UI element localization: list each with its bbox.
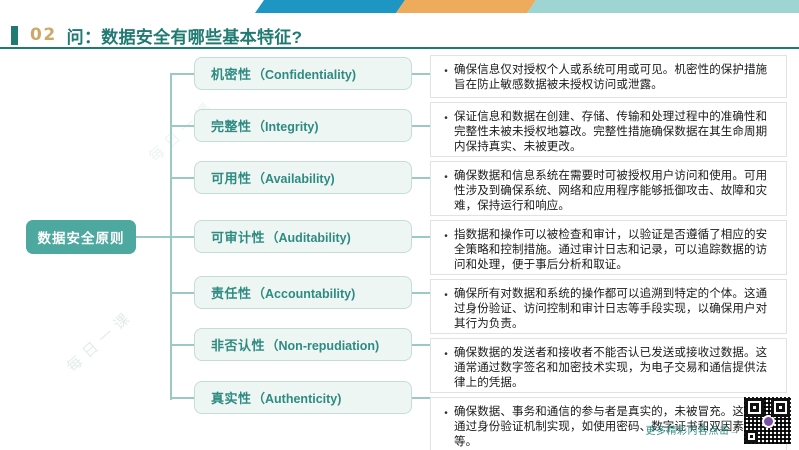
desc-text: 确保所有对数据和系统的操作都可以追溯到特定的个体。这通过身份验证、访问控制和审计… [454, 287, 778, 326]
page-title: 问：数据安全有哪些基本特征? [67, 23, 303, 48]
qr-code-icon[interactable] [744, 397, 791, 444]
node-label-en: （Auditability) [266, 227, 351, 246]
bullet-icon: • [438, 405, 454, 444]
connector-link-7 [412, 397, 431, 399]
node-label-en: （Confidentiality) [253, 64, 356, 83]
node-label-cn: 非否认性 [211, 335, 265, 354]
node-label-cn: 可审计性 [211, 227, 265, 246]
desc-text: 确保数据的发送者和接收者不能否认已发送或接收过数据。这通常通过数字签名和加密技术… [454, 346, 778, 385]
node-non-repudiation[interactable]: 非否认性 （Non-repudiation) [194, 328, 412, 361]
desc-text: 指数据和操作可以被检查和审计，以验证是否遵循了相应的安全策略和控制措施。通过审计… [454, 228, 778, 267]
node-label-cn: 完整性 [211, 116, 252, 135]
connector-branch-7 [170, 397, 195, 399]
banner-band-orange [396, 0, 536, 13]
connector-branch-4 [170, 236, 195, 238]
desc-text: 保证信息和数据在创建、存储、传输和处理过程中的准确性和完整性未被未授权地篡改。完… [454, 110, 778, 149]
connector-link-4 [412, 236, 431, 238]
root-node-label: 数据安全原则 [38, 227, 125, 247]
desc-panel-integrity: • 保证信息和数据在创建、存储、传输和处理过程中的准确性和完整性未被未授权地篡改… [430, 102, 787, 157]
bullet-icon: • [438, 63, 454, 90]
connector-link-6 [412, 344, 431, 346]
node-accountability[interactable]: 责任性 （Accountability) [194, 276, 412, 309]
bullet-icon: • [438, 110, 454, 149]
banner-band-teal [527, 0, 799, 13]
node-label-en: （Integrity) [253, 116, 319, 135]
connector-branch-6 [170, 344, 195, 346]
node-label-en: （Non-repudiation) [266, 335, 379, 354]
bullet-icon: • [438, 228, 454, 267]
desc-panel-auditability: • 指数据和操作可以被检查和审计，以验证是否遵循了相应的安全策略和控制措施。通过… [430, 220, 787, 275]
desc-panel-confidentiality: • 确保信息仅对授权个人或系统可用或可见。机密性的保护措施旨在防止敏感数据被未授… [430, 55, 787, 98]
node-label-en: （Availability) [253, 168, 335, 187]
connector-link-3 [412, 177, 431, 179]
qr-finder-bottom-left [745, 430, 758, 443]
connector-link-2 [412, 125, 431, 127]
connector-branch-5 [170, 292, 195, 294]
connector-branch-2 [170, 125, 195, 127]
slide-header: 02 问：数据安全有哪些基本特征? [0, 22, 799, 48]
node-label-cn: 可用性 [211, 168, 252, 187]
node-confidentiality[interactable]: 机密性 （Confidentiality) [194, 57, 412, 90]
desc-panel-availability: • 确保数据和信息系统在需要时可被授权用户访问和使用。可用性涉及到确保系统、网络… [430, 161, 787, 216]
bullet-icon: • [438, 287, 454, 326]
connector-branch-1 [170, 73, 195, 75]
node-integrity[interactable]: 完整性 （Integrity) [194, 109, 412, 142]
node-label-cn: 责任性 [211, 283, 252, 302]
header-divider [0, 47, 799, 49]
section-number: 02 [30, 25, 57, 45]
connector-link-5 [412, 292, 431, 294]
node-label-en: （Accountability) [253, 283, 356, 302]
desc-text: 确保信息仅对授权个人或系统可用或可见。机密性的保护措施旨在防止敏感数据被未授权访… [454, 63, 778, 90]
node-authenticity[interactable]: 真实性 （Authenticity) [194, 381, 412, 414]
top-decorative-banner [0, 0, 799, 13]
connector-link-1 [412, 73, 431, 75]
root-node-data-security-principles[interactable]: 数据安全原则 [26, 220, 136, 254]
bullet-icon: • [438, 346, 454, 385]
qr-logo-icon [762, 415, 775, 428]
node-label-en: （Authenticity) [253, 388, 342, 407]
mindmap-diagram: 数据安全原则 机密性 （Confidentiality) 完整性 （Integr… [0, 52, 799, 422]
node-auditability[interactable]: 可审计性 （Auditability) [194, 220, 412, 253]
node-label-cn: 真实性 [211, 388, 252, 407]
connector-branch-3 [170, 177, 195, 179]
connector-trunk [136, 236, 171, 238]
bullet-icon: • [438, 169, 454, 208]
desc-text: 确保数据和信息系统在需要时可被授权用户访问和使用。可用性涉及到确保系统、网络和应… [454, 169, 778, 208]
banner-band-blue [255, 0, 405, 13]
desc-panel-non-repudiation: • 确保数据的发送者和接收者不能否认已发送或接收过数据。这通常通过数字签名和加密… [430, 338, 787, 393]
node-availability[interactable]: 可用性 （Availability) [194, 161, 412, 194]
desc-panel-accountability: • 确保所有对数据和系统的操作都可以追溯到特定的个体。这通过身份验证、访问控制和… [430, 279, 787, 334]
node-label-cn: 机密性 [211, 64, 252, 83]
header-marker-icon [11, 26, 18, 45]
more-content-cta[interactable]: 更多精彩内容点击→ [646, 422, 741, 437]
